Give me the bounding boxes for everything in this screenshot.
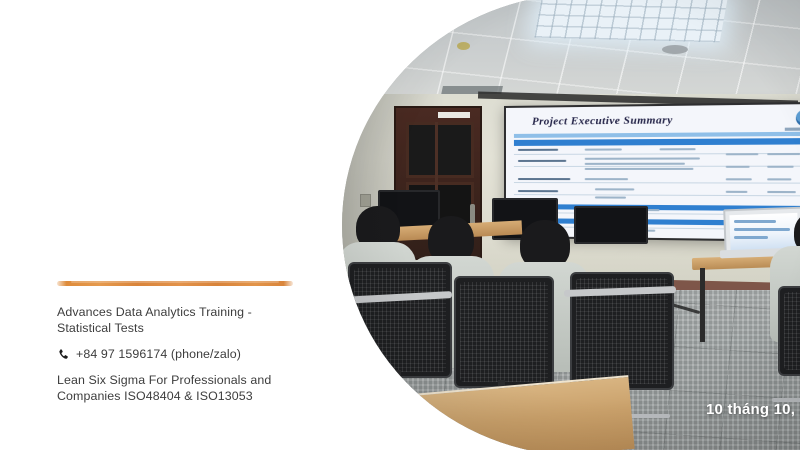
orange-brush-divider	[57, 280, 293, 287]
chair-mesh-texture	[354, 268, 446, 372]
slide-label	[518, 160, 566, 162]
suspended-ceiling	[342, 0, 800, 102]
mesh-office-chair	[348, 262, 452, 378]
photo-content: Project Executive Summary	[342, 0, 800, 450]
credential-subtitle: Lean Six Sigma For Professionals and Com…	[57, 373, 291, 404]
info-text-panel: Advances Data Analytics Training - Stati…	[57, 280, 305, 404]
laptop-screen-line	[734, 228, 790, 231]
chair-mesh-texture	[784, 292, 800, 370]
table-leg	[700, 268, 705, 342]
door-window-upper	[406, 122, 474, 178]
laptop-screen-line	[734, 236, 768, 239]
slide-value	[660, 148, 696, 150]
mesh-office-chair	[454, 276, 554, 388]
slide-table-row	[514, 166, 800, 167]
divider-stroke	[57, 281, 293, 286]
phone-icon	[57, 348, 70, 361]
slide-metric-label	[726, 166, 750, 168]
slide-metric-label	[726, 178, 752, 180]
contact-phone-row: +84 97 1596174 (phone/zalo)	[57, 347, 305, 362]
slide-value	[585, 168, 694, 170]
ceiling-speaker-icon	[662, 45, 688, 54]
slide-section-bar-1	[514, 138, 800, 146]
slide-value	[595, 196, 626, 198]
company-logo-wordmark	[785, 127, 800, 130]
chair-mesh-texture	[460, 282, 548, 382]
slide-label	[518, 178, 570, 180]
company-logo-icon	[796, 109, 800, 126]
slide-metric-value	[767, 153, 800, 155]
ceiling-sensor-icon	[457, 42, 470, 50]
slide-label	[518, 190, 558, 192]
slide-metric-value	[767, 191, 796, 193]
slide-table-row	[514, 182, 800, 184]
mesh-office-chair	[778, 286, 800, 376]
door-sign	[438, 112, 470, 118]
slide-metric-label	[726, 191, 748, 193]
photo-date-caption: 10 tháng 10, 2	[706, 401, 800, 418]
slide-value	[585, 163, 685, 165]
slide-value	[595, 188, 634, 190]
page-title: Advances Data Analytics Training - Stati…	[57, 305, 287, 336]
back-monitor	[574, 206, 648, 244]
slide-value	[585, 157, 700, 159]
slide-table-row	[514, 194, 800, 196]
fluorescent-light-panel	[534, 0, 727, 42]
slide-label	[518, 149, 558, 151]
contact-phone-number: +84 97 1596174 (phone/zalo)	[76, 347, 241, 362]
presentation-slide: Advances Data Analytics Training - Stati…	[0, 0, 800, 450]
projected-slide-title: Project Executive Summary	[532, 114, 673, 128]
slide-metric-label	[726, 153, 759, 155]
classroom-training-photo: Project Executive Summary	[342, 0, 800, 450]
slide-metric-value	[767, 166, 794, 168]
slide-metric-value	[767, 178, 791, 180]
slide-value	[585, 178, 628, 180]
laptop-screen-line	[734, 220, 776, 223]
slide-header-bar	[514, 132, 800, 138]
wall-outlet-icon	[360, 194, 371, 207]
slide-value	[585, 148, 622, 150]
